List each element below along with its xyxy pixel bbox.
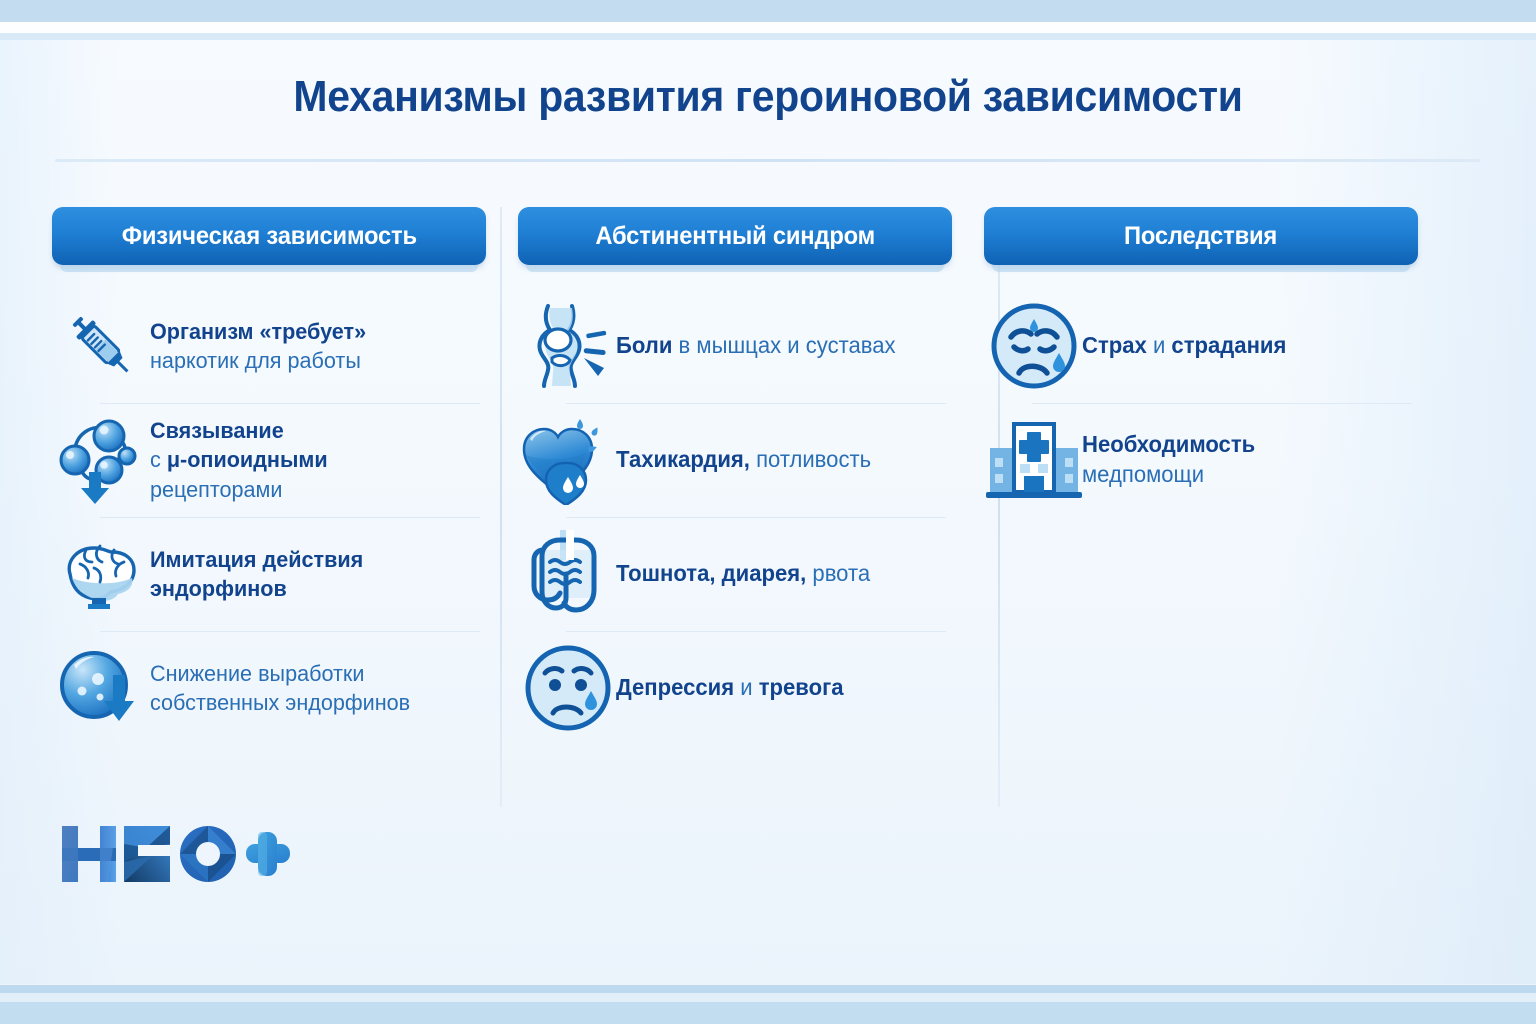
brain-icon <box>54 526 150 622</box>
item-text-bold: Тошнота, диарея, <box>616 560 806 586</box>
item-text-bold: Организм «требует» <box>150 319 366 344</box>
molecule-receptor-icon <box>54 412 150 508</box>
list-item-text: Тахикардия, потливость <box>616 445 871 475</box>
columns-container: Физическая зависимость <box>52 207 1484 745</box>
item-text-regular: рецепторами <box>150 477 282 502</box>
item-text-bold: Боли <box>616 332 672 358</box>
column-header-label: Абстинентный синдром <box>595 222 875 251</box>
item-text-bold: страдания <box>1171 332 1286 358</box>
intestine-icon <box>520 526 616 622</box>
column-header-withdrawal-syndrome[interactable]: Абстинентный синдром <box>518 207 952 265</box>
bottom-band-outer <box>0 1002 1536 1024</box>
column-divider-1 <box>500 207 502 807</box>
list-item[interactable]: Тошнота, диарея, рвота <box>518 517 952 631</box>
list-item[interactable]: Имитация действия эндорфинов <box>52 517 486 631</box>
heart-sweat-icon <box>520 412 616 508</box>
item-text-regular: с <box>150 447 167 472</box>
item-text-regular: и <box>1147 332 1172 358</box>
item-text-regular: рвота <box>806 560 870 586</box>
list-item-text: Необходимость медпомощи <box>1082 430 1255 490</box>
column-header-label: Последствия <box>1124 222 1277 251</box>
item-text-regular: в мышцах и суставах <box>672 332 895 358</box>
item-text-regular: Снижение выработки <box>150 661 364 686</box>
column-2-items: Боли в мышцах и суставах <box>518 289 952 745</box>
endorphin-decrease-icon <box>54 640 150 736</box>
list-item[interactable]: Организм «требует» наркотик для работы <box>52 289 486 403</box>
column-header-physical-dependence[interactable]: Физическая зависимость <box>52 207 486 265</box>
page-title: Механизмы развития героиновой зависимост… <box>54 72 1482 122</box>
item-text-bold: Депрессия <box>616 674 734 700</box>
column-header-label: Физическая зависимость <box>121 222 416 251</box>
list-item-text: Депрессия и тревога <box>616 673 844 703</box>
bottom-band-line <box>0 985 1536 993</box>
infographic-page: Механизмы развития героиновой зависимост… <box>0 0 1536 1024</box>
column-1-items: Организм «требует» наркотик для работы <box>52 289 486 745</box>
sad-face-icon <box>520 640 616 736</box>
item-text-bold: Необходимость <box>1082 431 1255 457</box>
brand-logo[interactable]: НЕО+ <box>60 818 290 890</box>
list-item-text: Имитация действия эндорфинов <box>150 545 363 604</box>
item-text-regular: и <box>734 674 759 700</box>
column-physical-dependence: Физическая зависимость <box>52 207 486 745</box>
list-item-text: Тошнота, диарея, рвота <box>616 559 870 589</box>
syringe-icon <box>54 298 150 394</box>
item-text-regular: наркотик для работы <box>150 348 361 373</box>
list-item[interactable]: Боли в мышцах и суставах <box>518 289 952 403</box>
column-withdrawal-syndrome: Абстинентный синдром <box>518 207 952 745</box>
top-band-inner <box>0 33 1536 40</box>
list-item-text: Боли в мышцах и суставах <box>616 331 896 361</box>
title-underline-rule <box>55 159 1480 162</box>
list-item-text: Организм «требует» наркотик для работы <box>150 317 366 376</box>
column-header-consequences[interactable]: Последствия <box>984 207 1418 265</box>
list-item[interactable]: Необходимость медпомощи <box>984 403 1418 517</box>
item-text-bold: Тахикардия, <box>616 446 750 472</box>
item-text-bold: эндорфинов <box>150 576 287 601</box>
column-3-items: Страх и страдания <box>984 289 1418 517</box>
bottom-band-light <box>0 993 1536 1002</box>
list-item[interactable]: Страх и страдания <box>984 289 1418 403</box>
item-text-bold: μ-опиоидными <box>167 447 328 472</box>
top-band-white <box>0 22 1536 33</box>
column-consequences: Последствия <box>984 207 1418 745</box>
item-text-bold: тревога <box>759 674 844 700</box>
item-text-regular: собственных эндорфинов <box>150 690 410 715</box>
item-text-bold: Связывание <box>150 418 284 443</box>
hospital-icon <box>986 412 1082 508</box>
item-text-bold: Имитация действия <box>150 547 363 572</box>
item-text-regular: медпомощи <box>1082 461 1204 487</box>
list-item-text: Связывание с μ-опиоидными рецепторами <box>150 416 328 504</box>
joint-pain-icon <box>520 298 616 394</box>
top-band-outer <box>0 0 1536 22</box>
list-item[interactable]: Тахикардия, потливость <box>518 403 952 517</box>
list-item[interactable]: Связывание с μ-опиоидными рецепторами <box>52 403 486 517</box>
item-text-regular: потливость <box>750 446 871 472</box>
list-item-text: Страх и страдания <box>1082 331 1286 361</box>
list-item-text: Снижение выработки собственных эндорфино… <box>150 659 410 718</box>
item-text-bold: Страх <box>1082 332 1147 358</box>
list-item[interactable]: Снижение выработки собственных эндорфино… <box>52 631 486 745</box>
list-item[interactable]: Депрессия и тревога <box>518 631 952 745</box>
crying-face-icon <box>986 298 1082 394</box>
